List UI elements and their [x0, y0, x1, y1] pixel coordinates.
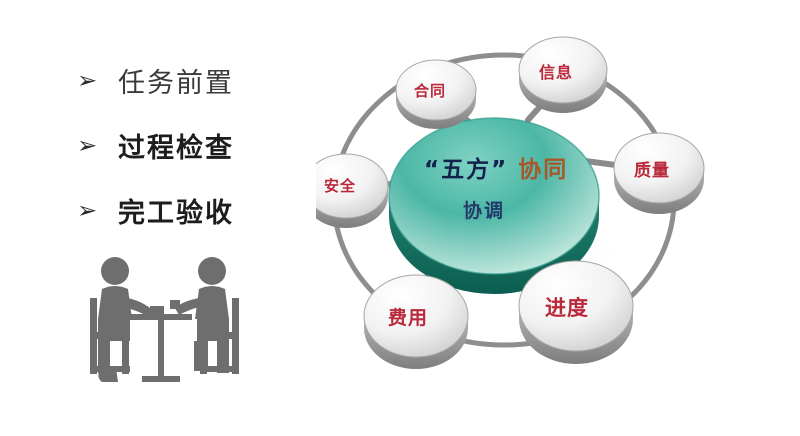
- slide-canvas: ➢ 任务前置 ➢ 过程检查 ➢ 完工验收: [0, 0, 800, 436]
- node-quality[interactable]: [614, 133, 704, 214]
- list-item[interactable]: ➢ 完工验收: [78, 178, 308, 243]
- node-progress[interactable]: [519, 261, 633, 364]
- arrow-bullet-icon: ➢: [77, 134, 119, 157]
- list-item-label: 任务前置: [118, 61, 234, 100]
- list-item[interactable]: ➢ 任务前置: [78, 48, 308, 113]
- arrow-bullet-icon: ➢: [77, 199, 119, 222]
- node-information[interactable]: [519, 37, 607, 113]
- node-cost[interactable]: [364, 275, 468, 369]
- two-people-meeting-icon: [72, 246, 252, 386]
- list-item-label: 过程检查: [118, 126, 234, 165]
- node-contract[interactable]: [396, 60, 476, 129]
- list-item-label: 完工验收: [118, 191, 234, 230]
- arrow-bullet-icon: ➢: [77, 69, 119, 92]
- bullet-list: ➢ 任务前置 ➢ 过程检查 ➢ 完工验收: [78, 48, 308, 243]
- list-item[interactable]: ➢ 过程检查: [78, 113, 308, 178]
- five-party-collaboration-diagram: 合同 信息 质量 进度 费用 安全 “五方” 协同 协调: [316, 28, 726, 408]
- node-safety[interactable]: [316, 154, 388, 228]
